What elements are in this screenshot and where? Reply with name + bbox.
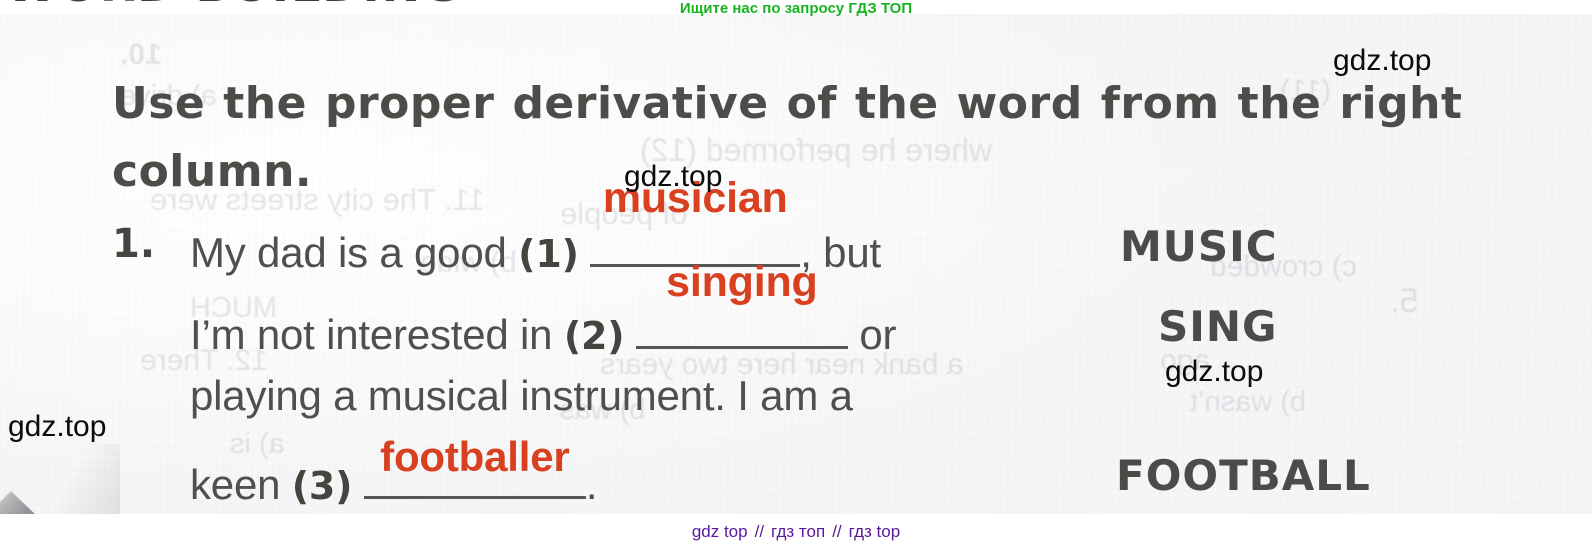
sentence-line-2: I’m not interested in (2) singing or — [190, 302, 896, 359]
watermark-top-right: gdz.top — [1333, 44, 1431, 78]
instruction-word: the — [855, 70, 939, 138]
question-number: 1. — [112, 221, 155, 267]
page-corner-fold — [0, 458, 60, 514]
top-promo-banner: Ищите нас по запросу ГДЗ ТОП — [0, 0, 1592, 17]
sentence-text: My dad is a good — [190, 229, 507, 276]
keyword-sing: SING — [1158, 302, 1278, 351]
sentence-text: or — [859, 311, 896, 358]
banner-part-1: gdz top — [692, 522, 748, 541]
bottom-site-banner: gdz top//гдз топ//гдз top — [0, 522, 1592, 542]
bleed-text: 5. — [1390, 282, 1418, 321]
keyword-football: FOOTBALL — [1116, 451, 1371, 500]
instruction-word: of — [787, 70, 837, 138]
instruction-word: word — [957, 70, 1083, 138]
watermark-middle: gdz.top — [624, 160, 722, 194]
answer-text-2: singing — [666, 258, 817, 307]
sentence-text: I’m not interested in — [190, 311, 552, 358]
banner-part-3: гдз top — [849, 522, 901, 541]
watermark-left: gdz.top — [8, 410, 106, 444]
instruction-word: right — [1339, 70, 1462, 138]
banner-part-2: гдз топ — [771, 522, 825, 541]
answer-blank-2[interactable]: singing — [636, 302, 848, 349]
sentence-text: keen — [190, 461, 280, 508]
banner-separator: // — [755, 522, 764, 541]
keyword-music: MUSIC — [1120, 222, 1278, 271]
answer-blank-3[interactable]: footballer — [364, 452, 586, 499]
banner-separator: // — [832, 522, 841, 541]
scanned-page: 10. a) drive where he performed (12) 11.… — [0, 14, 1592, 514]
sentence-line-3: playing a musical instrument. I am a — [190, 372, 853, 420]
instruction-word: proper — [325, 70, 494, 138]
blank-marker-3: (3) — [292, 464, 353, 508]
blank-marker-1: (1) — [518, 232, 579, 276]
sentence-line-4: keen (3) footballer . — [190, 452, 597, 509]
answer-text-3: footballer — [380, 433, 569, 481]
instruction-word: derivative — [512, 70, 768, 138]
instruction-word: the — [1238, 70, 1322, 138]
instruction-word: from — [1101, 70, 1220, 138]
screenshot-page: 10. a) drive where he performed (12) 11.… — [0, 0, 1592, 549]
instruction-word: column. — [112, 138, 312, 206]
bleed-text: 10. — [120, 38, 162, 72]
watermark-near-sing: gdz.top — [1165, 355, 1263, 389]
blank-marker-2: (2) — [564, 314, 625, 358]
exercise-instruction: Usetheproperderivativeofthewordfromtheri… — [112, 70, 1552, 206]
instruction-word: Use — [112, 70, 205, 138]
bleed-text: b) wasn’t — [1190, 386, 1306, 419]
instruction-word: the — [223, 70, 307, 138]
sentence-text: . — [586, 461, 597, 508]
